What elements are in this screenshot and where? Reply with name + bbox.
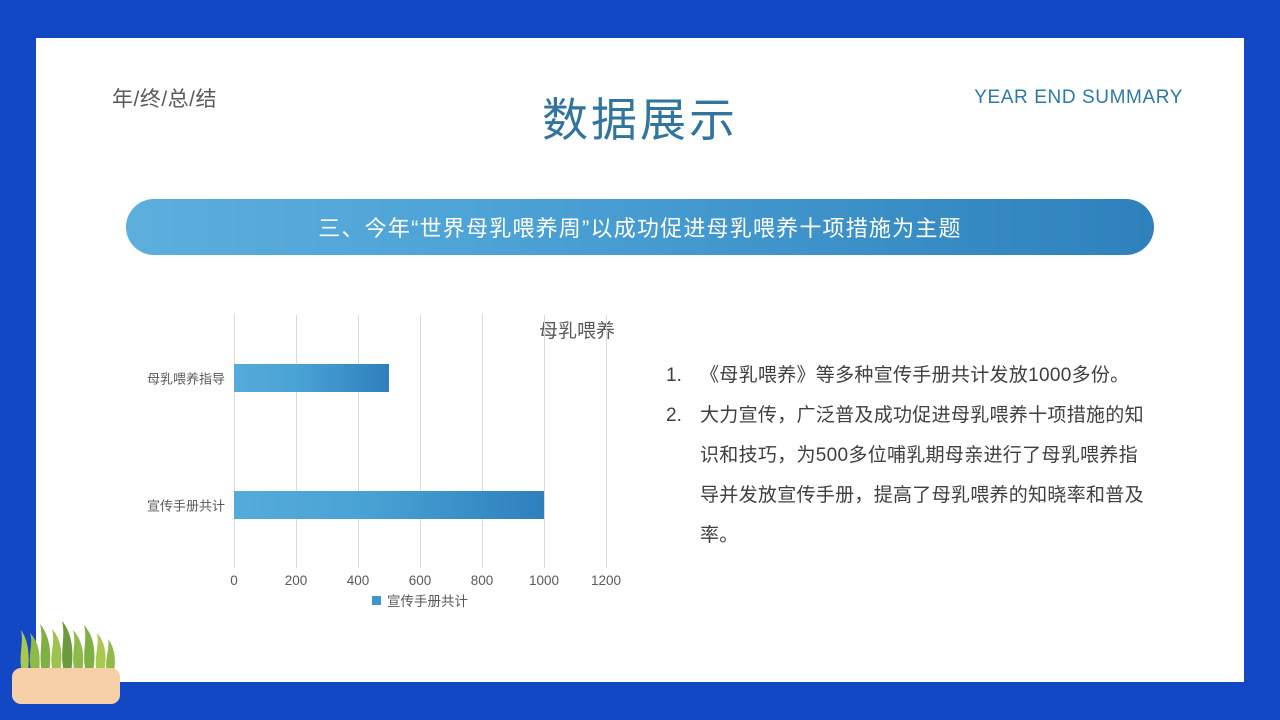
summary-points-list: 1.《母乳喂养》等多种宣传手册共计发放1000多份。2.大力宣传，广泛普及成功促…: [666, 356, 1156, 556]
chart-bar[interactable]: [234, 364, 389, 392]
bar-chart: 母乳喂养 母乳喂养指导宣传手册共计020040060080010001200 宣…: [112, 305, 652, 620]
chart-legend: 宣传手册共计: [234, 590, 606, 610]
plant-leaves: [21, 621, 115, 672]
chart-x-tick-label: 1200: [591, 573, 621, 588]
chart-x-tick-label: 200: [285, 573, 308, 588]
chart-x-tick-label: 0: [230, 573, 238, 588]
legend-label: 宣传手册共计: [387, 590, 468, 610]
chart-gridline: [234, 315, 235, 568]
section-banner-label: 三、今年“世界母乳喂养周”以成功促进母乳喂养十项措施为主题: [318, 211, 961, 243]
chart-x-tick-label: 1000: [529, 573, 559, 588]
chart-gridline: [482, 315, 483, 568]
chart-bar[interactable]: [234, 491, 544, 519]
list-item-number: 2.: [666, 396, 700, 436]
chart-gridline: [420, 315, 421, 568]
chart-category-label: 母乳喂养指导: [147, 369, 225, 388]
list-item: 1.《母乳喂养》等多种宣传手册共计发放1000多份。: [666, 356, 1156, 396]
chart-gridline: [296, 315, 297, 568]
list-item-text: 《母乳喂养》等多种宣传手册共计发放1000多份。: [700, 356, 1156, 396]
plant-pot: [12, 668, 120, 704]
list-item-number: 1.: [666, 356, 700, 396]
slide-canvas: 年/终/总/结 数据展示 YEAR END SUMMARY 三、今年“世界母乳喂…: [0, 0, 1280, 720]
chart-gridline: [544, 315, 545, 568]
slide-eyebrow-english: YEAR END SUMMARY: [974, 87, 1183, 109]
chart-gridline: [358, 315, 359, 568]
chart-plot-area: 母乳喂养指导宣传手册共计020040060080010001200: [234, 315, 606, 568]
legend-swatch-icon: [372, 596, 381, 605]
chart-category-label: 宣传手册共计: [147, 495, 225, 514]
potted-grass-icon: [8, 600, 126, 710]
list-item-text: 大力宣传，广泛普及成功促进母乳喂养十项措施的知识和技巧，为500多位哺乳期母亲进…: [700, 396, 1156, 556]
chart-x-tick-label: 400: [347, 573, 370, 588]
list-item: 2.大力宣传，广泛普及成功促进母乳喂养十项措施的知识和技巧，为500多位哺乳期母…: [666, 396, 1156, 556]
section-banner: 三、今年“世界母乳喂养周”以成功促进母乳喂养十项措施为主题: [126, 199, 1154, 255]
chart-x-tick-label: 600: [409, 573, 432, 588]
chart-x-tick-label: 800: [471, 573, 494, 588]
chart-gridline: [606, 315, 607, 568]
